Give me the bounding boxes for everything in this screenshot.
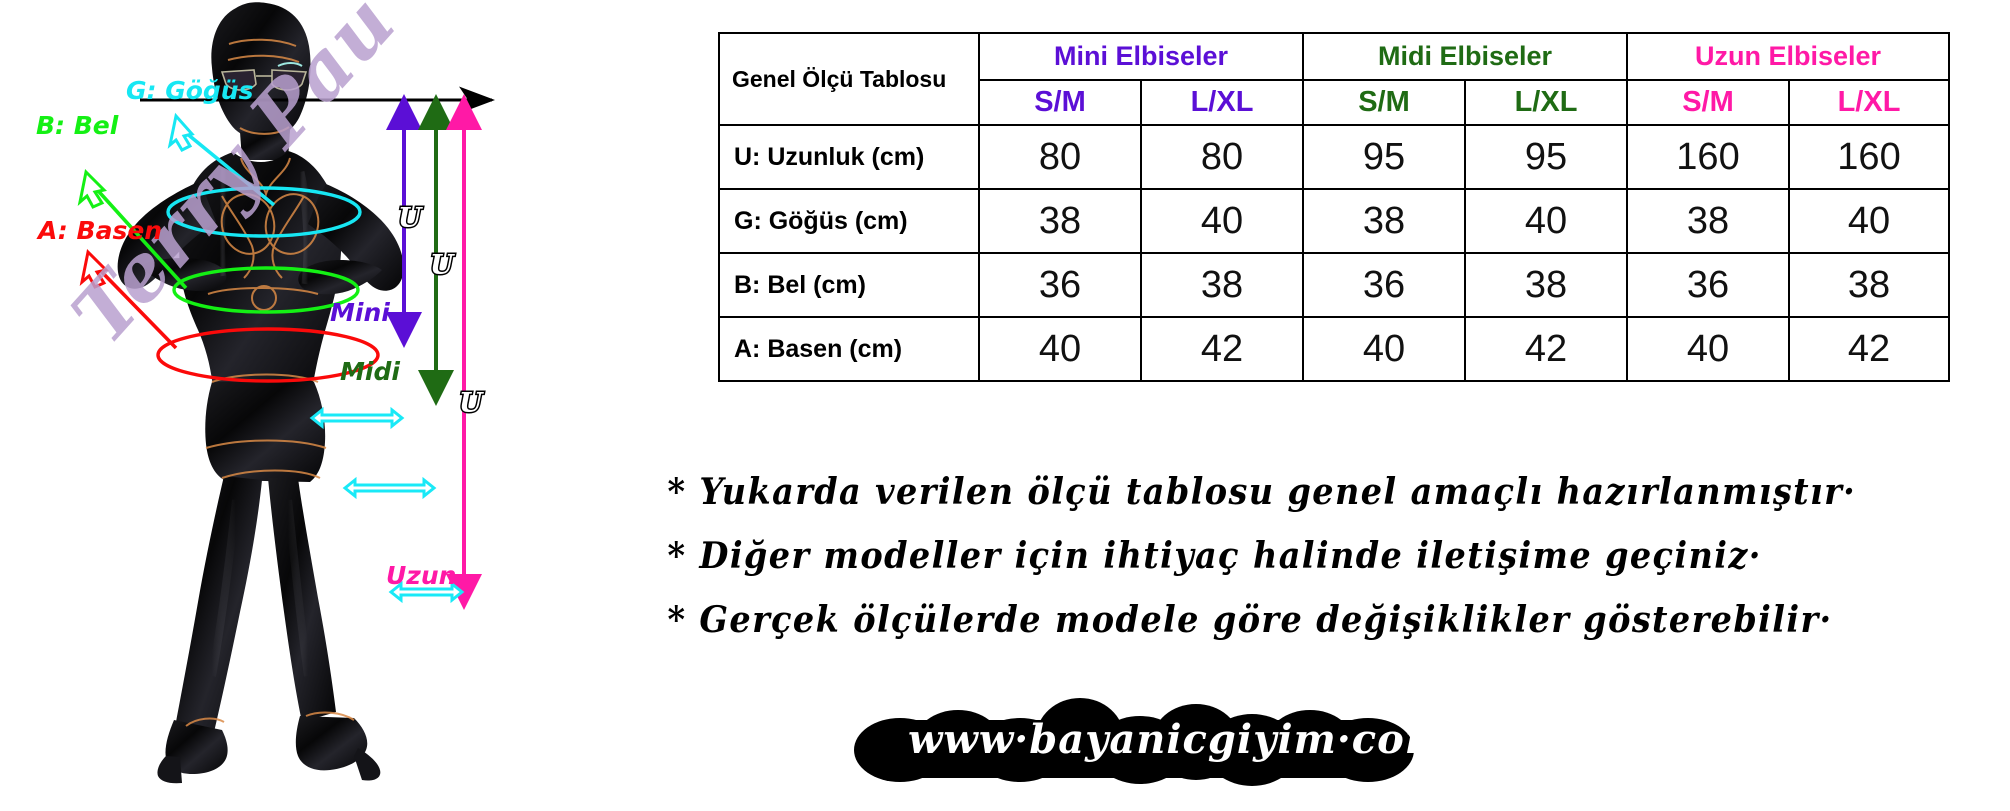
bust-callout-label: G: Göğüs: [126, 78, 254, 103]
note-line-2: * Diğer modeller için ihtiyaç halinde il…: [660, 524, 1916, 588]
table-corner-label: Genel Ölçü Tablosu: [719, 33, 979, 125]
cell-bel-midi-lxl: 38: [1465, 253, 1627, 317]
cell-gogus-midi-sm: 38: [1303, 189, 1465, 253]
size-table-panel: Genel Ölçü Tablosu Mini Elbiseler Midi E…: [660, 0, 2010, 811]
cell-uzunluk-midi-lxl: 95: [1465, 125, 1627, 189]
model-figure-panel: Terry Pau G: Göğüs B: Bel A: Basen Mini …: [0, 0, 660, 811]
size-header-uzun-sm: S/M: [1627, 80, 1789, 125]
cell-uzunluk-midi-sm: 95: [1303, 125, 1465, 189]
notes-block: * Yukarda verilen ölçü tablosu genel ama…: [660, 460, 2010, 652]
website-badge[interactable]: www·bayanicgiyim·com: [872, 706, 1484, 777]
website-url: www·bayanicgiyim·com: [908, 716, 1448, 763]
group-header-uzun: Uzun Elbiseler: [1627, 33, 1949, 80]
cell-uzunluk-uzun-sm: 160: [1627, 125, 1789, 189]
size-header-midi-lxl: L/XL: [1465, 80, 1627, 125]
size-chart-page: Terry Pau G: Göğüs B: Bel A: Basen Mini …: [0, 0, 2010, 811]
row-label-basen: A: Basen (cm): [719, 317, 979, 381]
note-line-3: * Gerçek ölçülerde modele göre değişikli…: [660, 588, 1916, 652]
size-header-midi-sm: S/M: [1303, 80, 1465, 125]
midi-length-label: Midi: [340, 359, 400, 384]
cell-uzunluk-mini-lxl: 80: [1141, 125, 1303, 189]
cell-bel-mini-lxl: 38: [1141, 253, 1303, 317]
table-row: A: Basen (cm) 40 42 40 42 40 42: [719, 317, 1949, 381]
cell-gogus-midi-lxl: 40: [1465, 189, 1627, 253]
table-row: G: Göğüs (cm) 38 40 38 40 38 40: [719, 189, 1949, 253]
length-axis-mark-mini: U: [398, 203, 422, 234]
length-axis-mark-uzun: U: [459, 388, 483, 419]
row-label-gogus: G: Göğüs (cm): [719, 189, 979, 253]
table-header-group-row: Genel Ölçü Tablosu Mini Elbiseler Midi E…: [719, 33, 1949, 80]
cell-bel-uzun-lxl: 38: [1789, 253, 1949, 317]
size-table: Genel Ölçü Tablosu Mini Elbiseler Midi E…: [718, 32, 1950, 382]
cell-basen-mini-sm: 40: [979, 317, 1141, 381]
cell-basen-midi-lxl: 42: [1465, 317, 1627, 381]
cell-basen-uzun-lxl: 42: [1789, 317, 1949, 381]
cell-gogus-mini-lxl: 40: [1141, 189, 1303, 253]
cell-uzunluk-mini-sm: 80: [979, 125, 1141, 189]
row-label-bel: B: Bel (cm): [719, 253, 979, 317]
length-axis-mark-midi: U: [430, 250, 454, 281]
table-row: B: Bel (cm) 36 38 36 38 36 38: [719, 253, 1949, 317]
cell-gogus-uzun-lxl: 40: [1789, 189, 1949, 253]
model-body-silhouette: [118, 2, 404, 783]
cell-basen-mini-lxl: 42: [1141, 317, 1303, 381]
midi-connector-arrow: [345, 480, 434, 496]
uzun-length-label: Uzun: [386, 563, 456, 588]
cell-bel-midi-sm: 36: [1303, 253, 1465, 317]
cell-gogus-uzun-sm: 38: [1627, 189, 1789, 253]
note-line-1: * Yukarda verilen ölçü tablosu genel ama…: [660, 460, 1916, 524]
size-header-mini-sm: S/M: [979, 80, 1141, 125]
waist-callout-label: B: Bel: [36, 113, 118, 138]
mini-connector-arrow: [312, 410, 402, 426]
mini-length-label: Mini: [330, 300, 390, 325]
group-header-midi: Midi Elbiseler: [1303, 33, 1627, 80]
table-row: U: Uzunluk (cm) 80 80 95 95 160 160: [719, 125, 1949, 189]
cell-gogus-mini-sm: 38: [979, 189, 1141, 253]
group-header-mini: Mini Elbiseler: [979, 33, 1303, 80]
cell-basen-uzun-sm: 40: [1627, 317, 1789, 381]
size-header-uzun-lxl: L/XL: [1789, 80, 1949, 125]
cell-uzunluk-uzun-lxl: 160: [1789, 125, 1949, 189]
size-header-mini-lxl: L/XL: [1141, 80, 1303, 125]
cell-bel-uzun-sm: 36: [1627, 253, 1789, 317]
hip-callout-label: A: Basen: [38, 218, 162, 243]
row-label-uzunluk: U: Uzunluk (cm): [719, 125, 979, 189]
cell-bel-mini-sm: 36: [979, 253, 1141, 317]
cell-basen-midi-sm: 40: [1303, 317, 1465, 381]
